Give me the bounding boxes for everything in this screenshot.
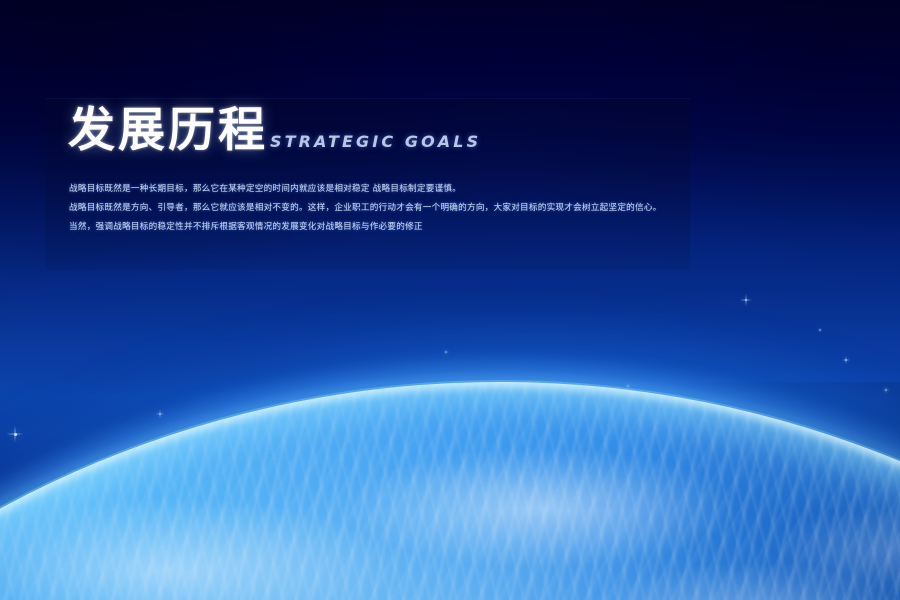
page-subtitle: STRATEGIC GOALS <box>270 134 481 150</box>
body-paragraph-2: 战略目标既然是方向、引导者，那么它就应该是相对不变的。这样，企业职工的行动才会有… <box>69 201 676 216</box>
earth-sphere <box>0 382 900 600</box>
banner-root: 发展历程 STRATEGIC GOALS 战略目标既然是一种长期目标，那么它在某… <box>0 0 900 600</box>
page-title: 发展历程 <box>68 107 268 154</box>
headline-panel: 发展历程 STRATEGIC GOALS 战略目标既然是一种长期目标，那么它在某… <box>45 98 690 270</box>
earth-terminator-shadow <box>0 382 900 600</box>
earth-horizon <box>0 270 900 600</box>
body-copy: 战略目标既然是一种长期目标，那么它在某种定空的时间内就应该是相对稳定 战略目标制… <box>69 182 676 235</box>
title-row: 发展历程 STRATEGIC GOALS <box>68 107 481 154</box>
body-paragraph-3: 当然，强调战略目标的稳定性并不排斥根据客观情况的发展变化对战略目标与作必要的修正 <box>69 220 676 235</box>
body-paragraph-1: 战略目标既然是一种长期目标，那么它在某种定空的时间内就应该是相对稳定 战略目标制… <box>69 182 676 197</box>
